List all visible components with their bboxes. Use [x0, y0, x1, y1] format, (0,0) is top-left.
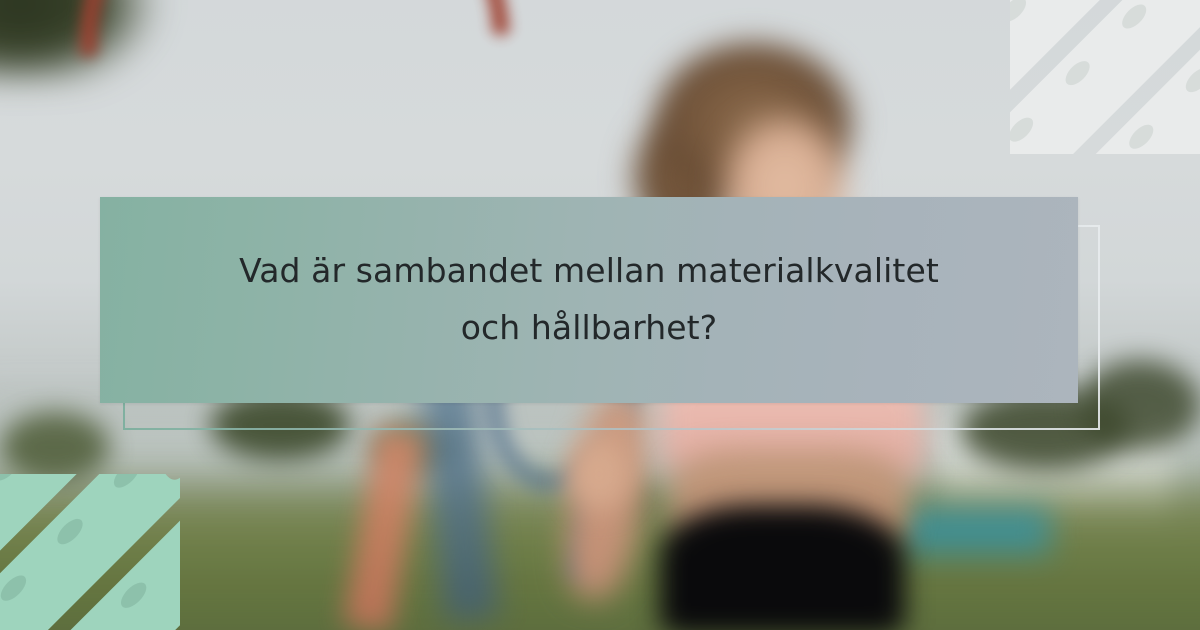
question-line-2: och hållbarhet? [461, 308, 718, 347]
teal-object [900, 508, 1050, 554]
question-card: Vad är sambandet mellan materialkvalitet… [100, 197, 1078, 403]
question-line-1: Vad är sambandet mellan materialkvalitet [239, 251, 939, 290]
bush-shape [0, 412, 110, 482]
poster-canvas: Vad är sambandet mellan materialkvalitet… [0, 0, 1200, 630]
person-shorts [660, 505, 905, 630]
person-hand [568, 438, 630, 510]
question-text: Vad är sambandet mellan materialkvalitet… [178, 243, 1000, 357]
